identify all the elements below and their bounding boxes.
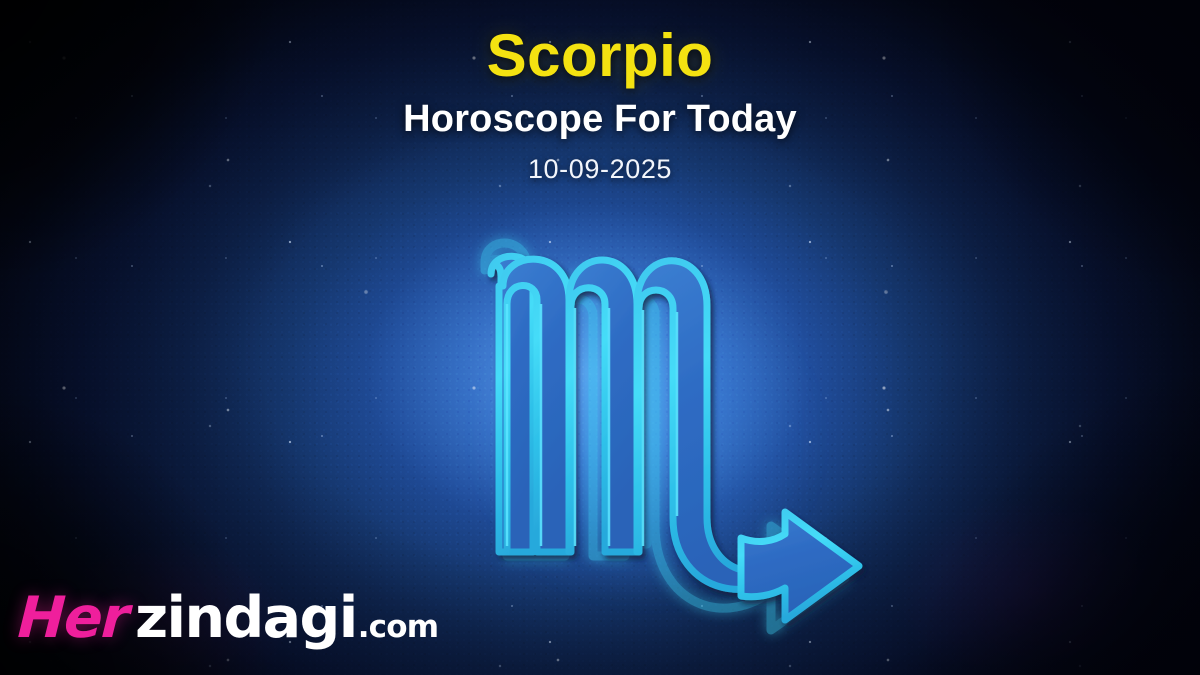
horoscope-poster: Scorpio Horoscope For Today 10-09-2025 H…: [0, 0, 1200, 675]
logo-zindagi-text: zindagi: [135, 590, 357, 647]
poster-text-block: Scorpio Horoscope For Today 10-09-2025: [0, 0, 1200, 183]
date-label: 10-09-2025: [0, 138, 1200, 183]
logo-tld-text: .com: [358, 612, 439, 643]
logo-her-text: Her: [17, 590, 130, 647]
headline: Horoscope For Today: [0, 86, 1200, 138]
page-title: Scorpio: [0, 0, 1200, 86]
herzindagi-logo[interactable]: Her zindagi .com: [18, 590, 438, 647]
scorpio-zodiac-glyph-icon: [441, 226, 881, 656]
